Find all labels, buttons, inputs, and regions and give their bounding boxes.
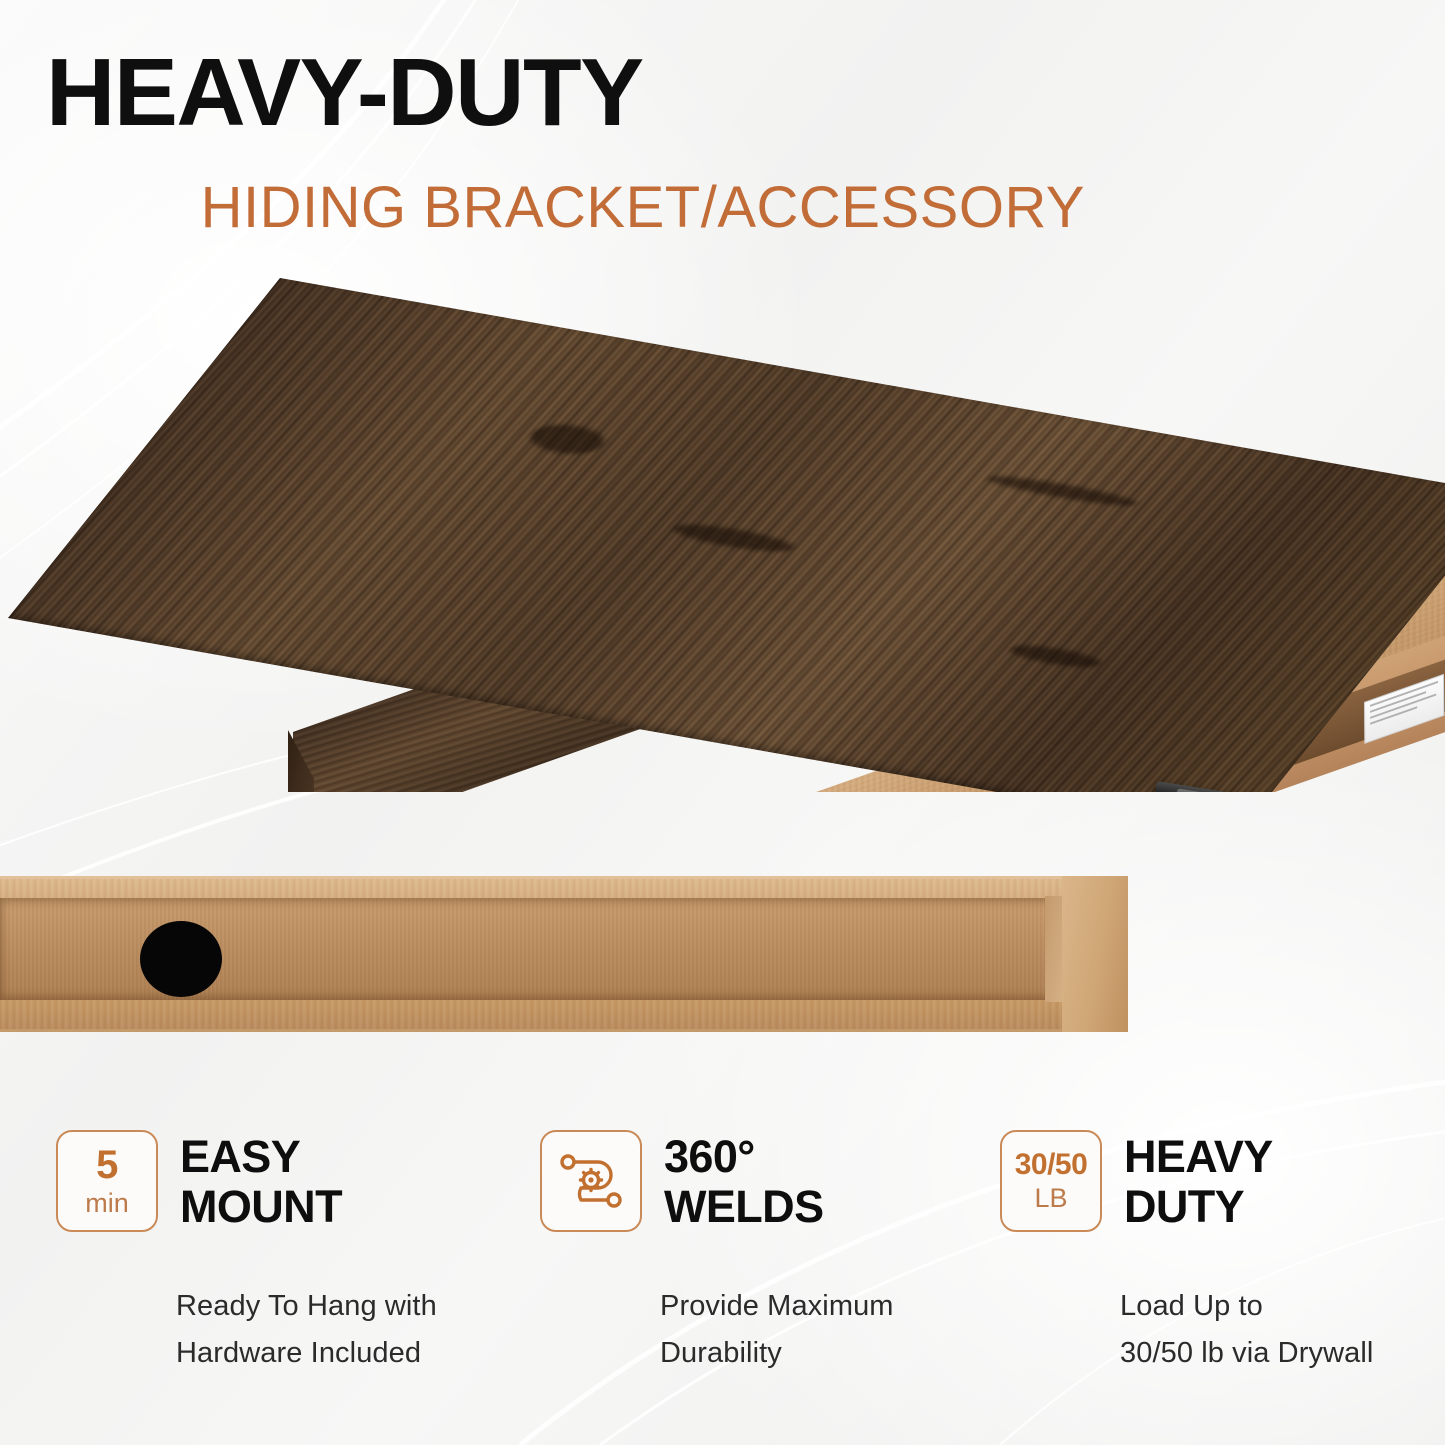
badge-unit: LB xyxy=(1034,1185,1067,1212)
badge-unit: min xyxy=(85,1190,129,1217)
feature-description: Load Up to 30/50 lb via Drywall xyxy=(1120,1283,1440,1377)
weld-path-gear-icon xyxy=(540,1130,642,1232)
hero-product-photo xyxy=(0,262,1445,792)
feature-description: Provide Maximum Durability xyxy=(660,1283,980,1377)
page-title: HEAVY-DUTY xyxy=(46,44,1386,142)
feature-title-line1: HEAVY xyxy=(1124,1132,1273,1182)
feature-desc-line2: Durability xyxy=(660,1330,980,1377)
feature-description: Ready To Hang with Hardware Included xyxy=(176,1283,496,1377)
feature-desc-line2: 30/50 lb via Drywall xyxy=(1120,1330,1440,1377)
badge-value: 30/50 xyxy=(1015,1150,1088,1180)
bracket-rod xyxy=(1156,781,1414,792)
feature-360-welds: 360° WELDS Provide Maximum Durability xyxy=(540,1130,980,1377)
feature-title-line2: MOUNT xyxy=(180,1182,342,1232)
feature-easy-mount: 5 min EASY MOUNT Ready To Hang with Hard… xyxy=(56,1130,496,1377)
feature-desc-line1: Load Up to xyxy=(1120,1283,1440,1330)
feature-title-line1: 360° xyxy=(664,1132,824,1182)
feature-title: EASY MOUNT xyxy=(180,1130,342,1233)
channel-outer-end xyxy=(1062,876,1128,1032)
shelf-top-surface xyxy=(8,278,1445,792)
feature-heavy-duty: 30/50 LB HEAVY DUTY Load Up to 30/50 lb … xyxy=(1000,1130,1440,1377)
feature-row: 5 min EASY MOUNT Ready To Hang with Hard… xyxy=(0,1130,1445,1430)
product-marketing-image: HEAVY-DUTY HIDING BRACKET/ACCESSORY xyxy=(0,0,1445,1445)
floating-shelf xyxy=(0,262,1445,792)
feature-title: HEAVY DUTY xyxy=(1124,1130,1273,1233)
weld-path-icon-glyph xyxy=(558,1151,624,1211)
weight-capacity-badge: 30/50 LB xyxy=(1000,1130,1102,1232)
feature-title-line2: WELDS xyxy=(664,1182,824,1232)
feature-title-line2: DUTY xyxy=(1124,1182,1273,1232)
page-subtitle: HIDING BRACKET/ACCESSORY xyxy=(0,178,1085,239)
five-minute-badge: 5 min xyxy=(56,1130,158,1232)
badge-value: 5 xyxy=(96,1145,118,1185)
shelf-underside-channel xyxy=(0,876,1128,1032)
feature-desc-line2: Hardware Included xyxy=(176,1330,496,1377)
feature-desc-line1: Provide Maximum xyxy=(660,1283,980,1330)
feature-title: 360° WELDS xyxy=(664,1130,824,1233)
feature-desc-line1: Ready To Hang with xyxy=(176,1283,496,1330)
feature-title-line1: EASY xyxy=(180,1132,342,1182)
hidden-rod-bracket xyxy=(1150,757,1445,792)
black-mounting-hole xyxy=(140,921,222,997)
